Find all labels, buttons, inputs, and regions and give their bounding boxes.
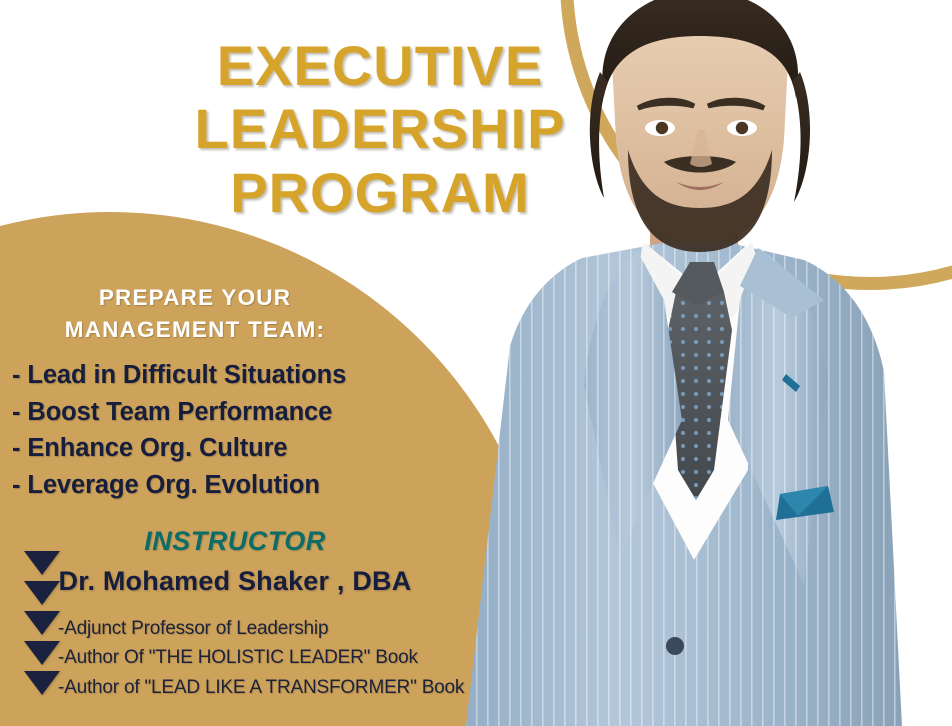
triangle-down-icon xyxy=(24,641,60,665)
credentials-list: -Adjunct Professor of Leadership -Author… xyxy=(58,614,464,702)
benefit-item: - Leverage Org. Evolution xyxy=(12,467,346,504)
subtitle-line-2: MANAGEMENT TEAM: xyxy=(30,314,360,346)
triangle-down-icon xyxy=(24,671,60,695)
credential-item: -Author of "LEAD LIKE A TRANSFORMER" Boo… xyxy=(58,673,464,702)
triangle-down-icon xyxy=(24,581,60,605)
executive-leadership-program-poster: EXECUTIVE LEADERSHIP PROGRAM PREPARE YOU… xyxy=(0,0,952,726)
instructor-label: INSTRUCTOR xyxy=(0,526,470,557)
triangle-bullet-stack xyxy=(24,551,60,701)
credential-item: -Adjunct Professor of Leadership xyxy=(58,614,464,643)
benefit-item: - Enhance Org. Culture xyxy=(12,430,346,467)
benefits-list: - Lead in Difficult Situations - Boost T… xyxy=(12,357,346,504)
instructor-photo xyxy=(432,0,952,726)
triangle-down-icon xyxy=(24,611,60,635)
subtitle-line-1: PREPARE YOUR xyxy=(30,282,360,314)
benefit-item: - Lead in Difficult Situations xyxy=(12,357,346,394)
triangle-down-icon xyxy=(24,551,60,575)
instructor-name: Dr. Mohamed Shaker , DBA xyxy=(0,566,470,597)
poster-subtitle: PREPARE YOUR MANAGEMENT TEAM: xyxy=(30,282,360,346)
credential-item: -Author Of "THE HOLISTIC LEADER" Book xyxy=(58,643,464,672)
benefit-item: - Boost Team Performance xyxy=(12,394,346,431)
